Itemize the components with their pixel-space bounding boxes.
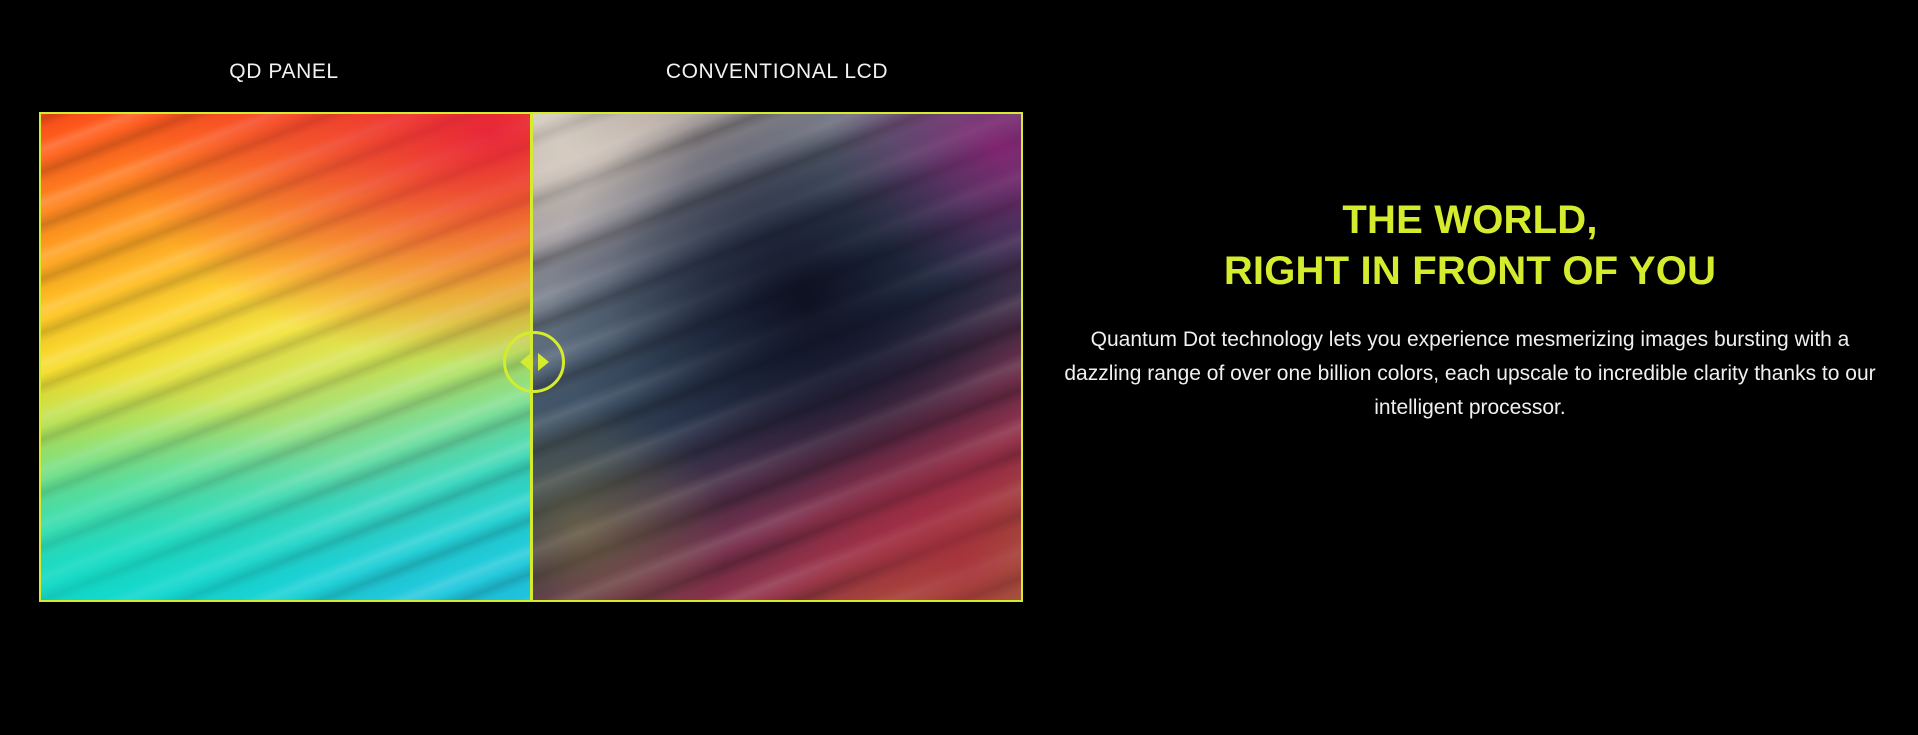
page-root: QD PANEL CONVENTIONAL LCD THE WORLD, RIG… [0,0,1918,735]
qd-panel-image [41,114,531,600]
triangle-right-icon [538,353,549,371]
comparison-slider-handle[interactable] [503,331,565,393]
comparison-image-frame[interactable] [39,112,1023,602]
marketing-copy-section: THE WORLD, RIGHT IN FRONT OF YOU Quantum… [1060,195,1880,425]
panel-label-row: QD PANEL CONVENTIONAL LCD [39,60,1023,100]
conventional-lcd-artwork [531,114,1021,600]
image-comparison-section: QD PANEL CONVENTIONAL LCD [39,60,1023,605]
headline-line-2: RIGHT IN FRONT OF YOU [1060,246,1880,297]
triangle-left-icon [520,353,531,371]
panel-label-conventional-lcd: CONVENTIONAL LCD [666,60,888,84]
conventional-lcd-image [531,114,1021,600]
body-paragraph: Quantum Dot technology lets you experien… [1060,323,1880,425]
headline: THE WORLD, RIGHT IN FRONT OF YOU [1060,195,1880,297]
headline-line-1: THE WORLD, [1060,195,1880,246]
qd-panel-artwork [41,114,531,600]
panel-label-qd: QD PANEL [229,60,338,84]
